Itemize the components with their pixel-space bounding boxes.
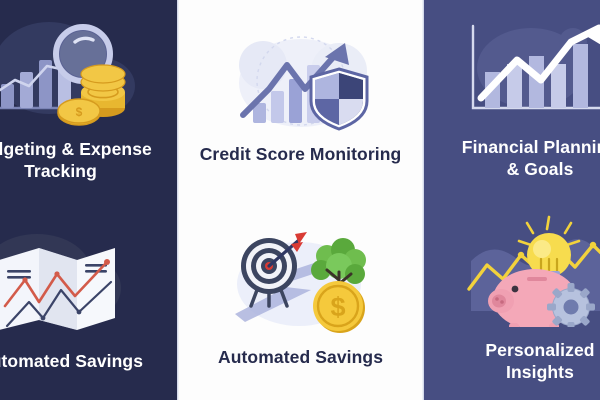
card-automated-savings-center[interactable]: $ Automated Savings [177,200,424,400]
card-credit-score-monitoring[interactable]: Credit Score Monitoring [177,0,424,200]
panel-center: Credit Score Monitoring [177,0,424,400]
growth-chart-shield-icon [221,31,381,140]
card-automated-savings-left[interactable]: Automated Savings [0,200,177,400]
caption-line-1: Automated Savings [0,351,143,372]
card-financial-planning-goals[interactable]: Financial Planning & Goals [424,0,600,200]
folded-map-chart-icon [0,226,152,343]
panel-left: $ Budgeting & Expense Tracking [0,0,177,400]
card-caption: Budgeting & Expense Tracking [0,139,152,182]
bar-chart-magnifier-coins-icon: $ [0,16,152,131]
caption-line-1: Automated Savings [218,347,383,368]
caption-line-2: & Goals [462,159,600,180]
piggy-bank-lightbulb-gear-icon [453,215,600,332]
card-caption: Financial Planning & Goals [462,137,600,180]
card-caption: Automated Savings [218,347,383,368]
caption-line-1: Budgeting & Expense [0,139,152,160]
rising-arrow-bar-chart-icon [453,18,600,129]
caption-line-1: Financial Planning [462,137,600,158]
panel-right: Financial Planning & Goals [424,0,600,400]
caption-line-2: Tracking [0,161,152,182]
svg-text:$: $ [330,292,345,322]
card-budgeting-expense-tracking[interactable]: $ Budgeting & Expense Tracking [0,0,177,200]
caption-line-2: Insights [485,362,594,383]
target-arrow-money-tree-icon: $ [221,228,381,343]
card-caption: Credit Score Monitoring [200,144,402,165]
card-caption: Automated Savings [0,351,143,372]
card-personalized-insights[interactable]: Personalized Insights [424,200,600,400]
caption-line-1: Credit Score Monitoring [200,144,402,165]
svg-text:$: $ [76,105,83,119]
infographic-canvas: $ Budgeting & Expense Tracking [0,0,600,400]
caption-line-1: Personalized [485,340,594,361]
card-caption: Personalized Insights [485,340,594,383]
